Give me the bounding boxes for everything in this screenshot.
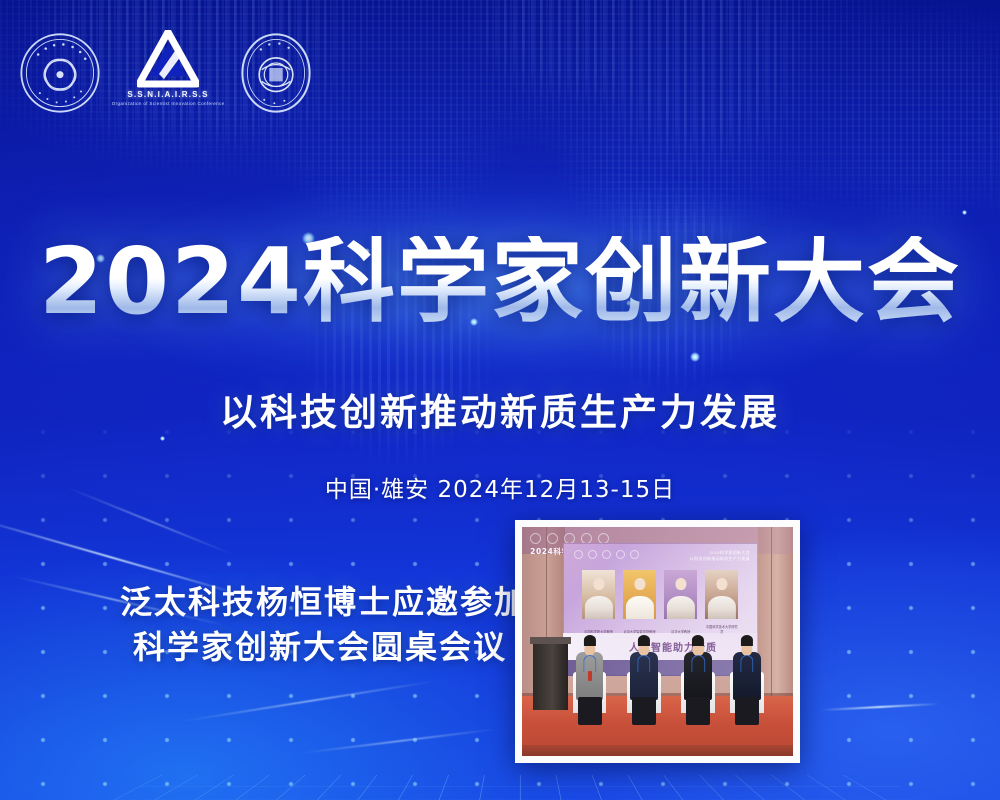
screen-icon-1	[574, 550, 583, 559]
speaker-photo	[582, 570, 615, 620]
dateline: 中国·雄安 2024年12月13-15日	[0, 470, 1000, 504]
venue-icon-1	[530, 533, 541, 544]
photo-panelist	[625, 637, 663, 710]
panelist-legs	[578, 697, 602, 725]
screen-icon-4	[616, 550, 625, 559]
speaker-card: 中国科学技术大学研究员	[705, 570, 738, 639]
speaker-photo	[623, 570, 656, 620]
photo-panelist	[728, 637, 766, 710]
logo-academy-seal	[234, 31, 318, 120]
panelist-hair	[692, 635, 704, 645]
speaker-body	[667, 596, 695, 619]
panelist-lanyard	[583, 655, 596, 672]
panelist-legs	[735, 697, 759, 725]
screen-header: 2024科学家创新大会 以科技创新推动新质生产力发展	[690, 550, 750, 562]
logo-china-association-science-technology-seal	[18, 31, 102, 120]
speaker-head	[716, 578, 727, 591]
photo-floor	[522, 745, 793, 756]
panelist-legs	[632, 697, 656, 725]
page-title: 2024科学家创新大会	[33, 236, 967, 328]
panelist-lanyard	[740, 655, 753, 672]
screen-speaker-cards: 中国科学院大学教授 北京大学智能学院教授	[582, 570, 738, 639]
logo-scientist-innovation-conference-triangle: S.S.N.I.A.I.R.S.S Organization of Scient…	[130, 30, 206, 120]
panelist-lanyard	[691, 655, 704, 672]
panelist-hair	[638, 635, 650, 645]
photo-podium	[533, 642, 568, 711]
photo-podium-top	[530, 637, 571, 644]
speaker-card: 北京大学智能学院教授	[623, 570, 656, 639]
logo-row: S.S.N.I.A.I.R.S.S Organization of Scient…	[18, 30, 318, 120]
screen-icon-row	[574, 550, 639, 559]
subtitle: 以科技创新推动新质生产力发展	[0, 382, 1000, 436]
panelist-hair	[741, 635, 753, 645]
photo-panelist	[679, 637, 717, 710]
speaker-head	[675, 578, 686, 591]
logo-triangle-sublabel: Organization of Scientist Innovation Con…	[112, 101, 225, 106]
screen-icon-3	[602, 550, 611, 559]
speaker-photo	[705, 570, 738, 620]
logo-triangle-label: S.S.N.I.A.I.R.S.S	[127, 91, 208, 99]
panelist-hair	[584, 635, 596, 645]
venue-icon-2	[547, 533, 558, 544]
caption-line-2: 科学家创新大会圆桌会议	[120, 625, 520, 670]
screen-icon-5	[630, 550, 639, 559]
panel-photo-frame: 2024科学家创新大会 2024科学家创新大会 以科技创新推动新质生产力发展	[515, 520, 800, 763]
speaker-photo	[664, 570, 697, 620]
caption-block: 泛太科技杨恒博士应邀参加 科学家创新大会圆桌会议	[120, 580, 520, 670]
speaker-head	[593, 578, 604, 591]
screen-header-line-2: 以科技创新推动新质生产力发展	[690, 556, 750, 562]
caption-line-1: 泛太科技杨恒博士应邀参加	[120, 580, 520, 625]
speaker-head	[634, 578, 645, 591]
speaker-body	[626, 596, 654, 619]
speaker-body	[584, 596, 612, 619]
speaker-card: 清华大学教授	[664, 570, 697, 639]
speaker-body	[708, 596, 736, 619]
screen-icon-2	[588, 550, 597, 559]
photo-panelist	[571, 637, 609, 710]
main-title-wrap: 2024科学家创新大会	[0, 236, 1000, 328]
panel-photo: 2024科学家创新大会 2024科学家创新大会 以科技创新推动新质生产力发展	[522, 527, 793, 756]
panelist-lanyard	[637, 655, 650, 672]
panelist-legs	[686, 697, 710, 725]
conference-poster: S.S.N.I.A.I.R.S.S Organization of Scient…	[0, 0, 1000, 800]
panelist-badge	[588, 671, 592, 681]
speaker-card: 中国科学院大学教授	[582, 570, 615, 639]
